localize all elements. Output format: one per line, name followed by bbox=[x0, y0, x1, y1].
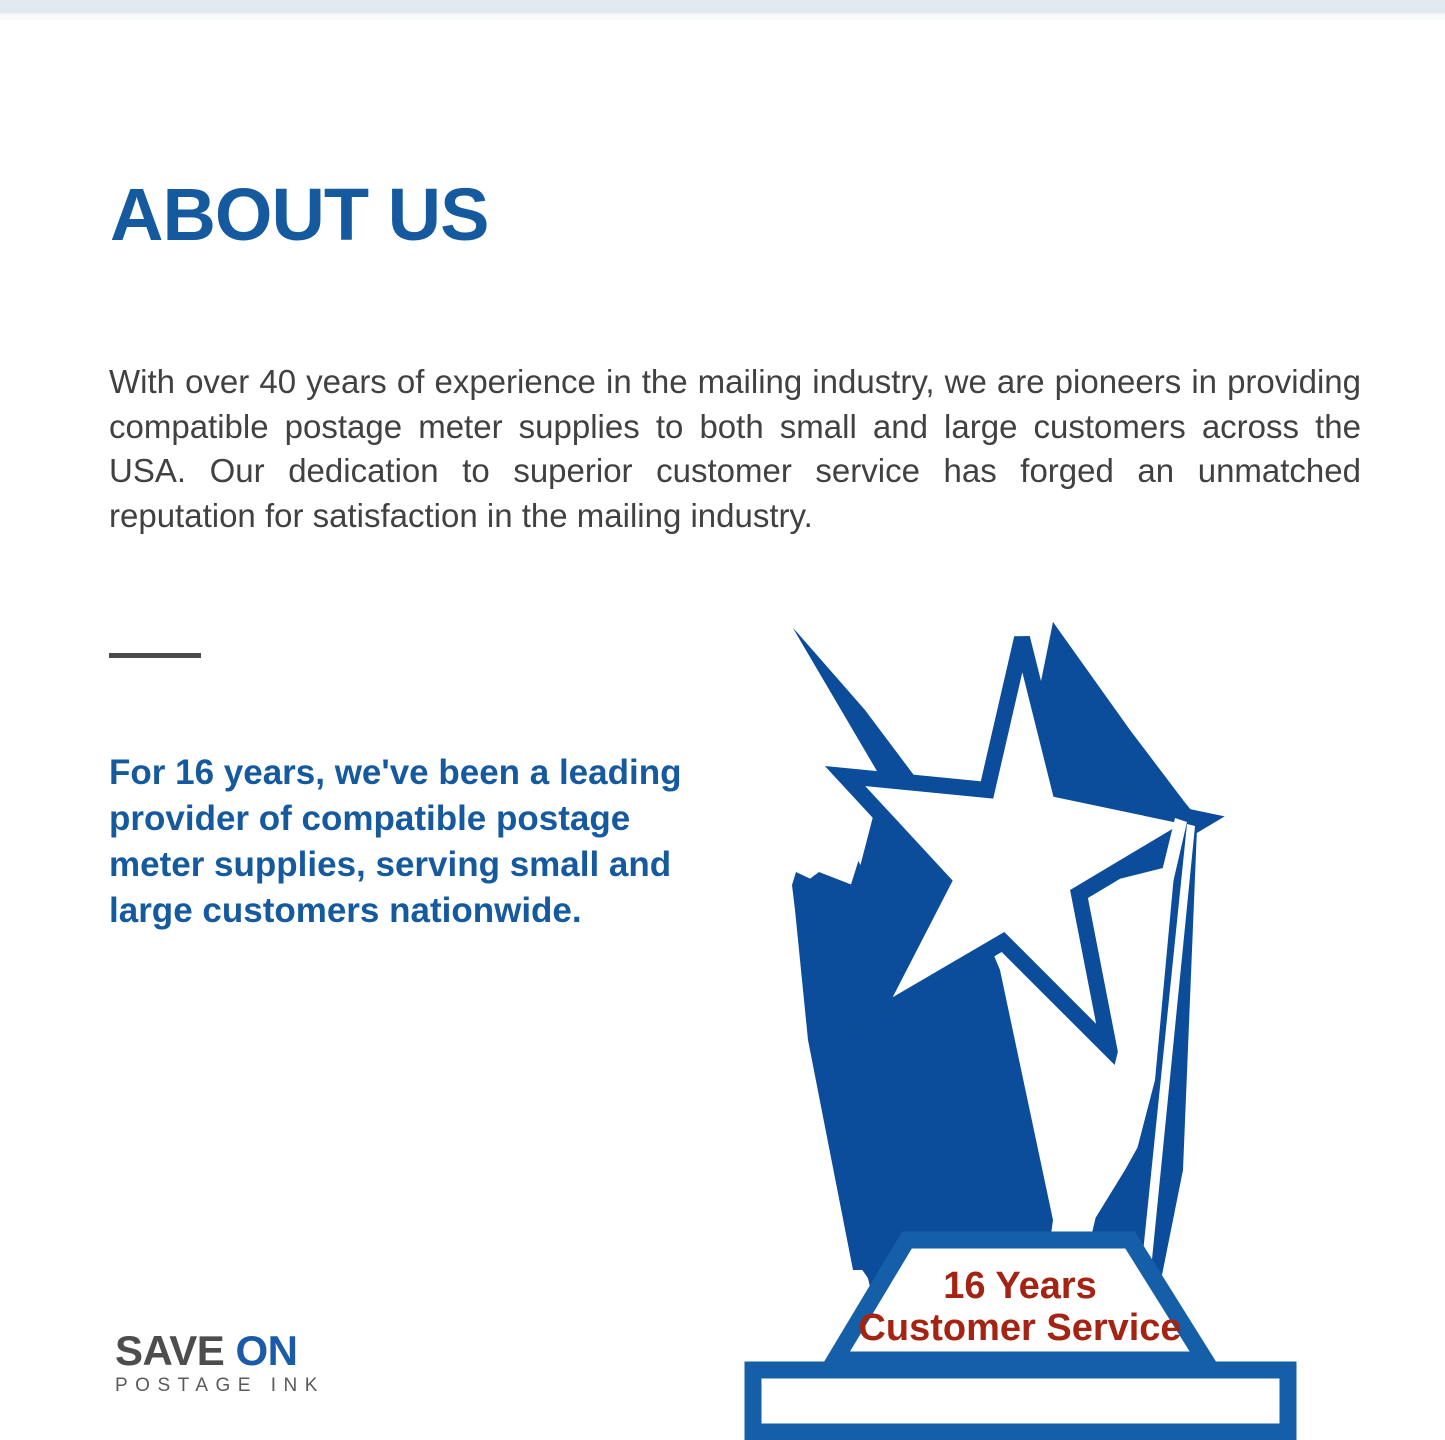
top-band-fade bbox=[0, 13, 1445, 22]
highlight-statement: For 16 years, we've been a leading provi… bbox=[109, 750, 684, 934]
page-title: ABOUT US bbox=[110, 178, 488, 252]
logo-tagline: POSTAGE INK bbox=[115, 1374, 325, 1398]
logo-word-on: ON bbox=[235, 1327, 297, 1374]
logo-wordmark: SAVE ON bbox=[115, 1330, 325, 1372]
trophy-base-plinth bbox=[753, 1370, 1288, 1432]
top-band bbox=[0, 0, 1445, 13]
brand-logo: SAVE ON POSTAGE INK bbox=[115, 1330, 325, 1398]
trophy-base-line-two: Customer Service bbox=[858, 1307, 1181, 1349]
about-us-page: ABOUT US With over 40 years of experienc… bbox=[0, 0, 1445, 1440]
trophy-base-line-one: 16 Years bbox=[943, 1265, 1097, 1307]
section-divider bbox=[109, 653, 201, 658]
logo-word-save: SAVE bbox=[115, 1327, 224, 1374]
trophy-illustration: 16 Years Customer Service bbox=[735, 610, 1335, 1440]
about-paragraph: With over 40 years of experience in the … bbox=[109, 360, 1361, 538]
